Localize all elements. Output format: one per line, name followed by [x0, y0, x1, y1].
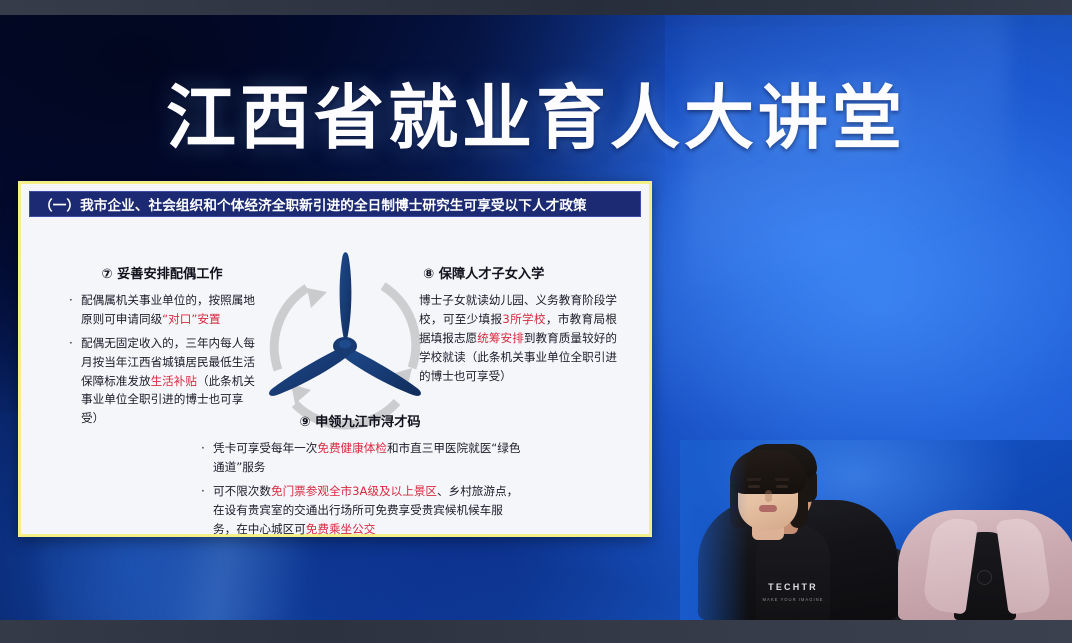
item-8-heading: ⑧ 保障人才子女入学 [419, 264, 617, 285]
highlight-segment: 生活补贴 [151, 374, 197, 388]
letterbox-bar-top [0, 0, 1072, 15]
slide-header-bar: （一）我市企业、社会组织和个体经济全职新引进的全日制博士研究生可享受以下人才政策 [29, 191, 641, 217]
slide-item-8: ⑧ 保障人才子女入学 博士子女就读幼儿园、义务教育阶段学校，可至少填报3所学校，… [419, 264, 617, 385]
bullet-dot: · [69, 291, 73, 310]
presenter-video-inset: TECHTR MAKE YOUR IMAGINE [680, 440, 1072, 620]
item-9-bullet-list: · 凭卡可享受每年一次免费健康体检和市直三甲医院就医“绿色通道”服务 · 可不限… [199, 439, 521, 538]
bullet-dot: · [201, 482, 205, 501]
highlight-segment: “对口”安置 [162, 312, 220, 326]
item-9-heading: ⑨ 申领九江市浔才码 [199, 412, 521, 433]
slide-body: ⑦ 妥善安排配偶工作 · 配偶属机关事业单位的，按照属地原则可申请同级“对口”安… [21, 224, 649, 534]
highlight-segment: 免费乘坐公交 [306, 522, 376, 536]
bullet-dot: · [201, 439, 205, 458]
bullet-dot: · [69, 334, 73, 353]
female-presenter-mouth [759, 505, 777, 512]
text-segment: 可不限次数 [213, 484, 271, 498]
female-presenter-eye-left [748, 485, 760, 489]
slide-header-title: （一）我市企业、社会组织和个体经济全职新引进的全日制博士研究生可享受以下人才政策 [39, 194, 587, 214]
list-item: · 配偶属机关事业单位的，按照属地原则可申请同级“对口”安置 [67, 291, 257, 329]
female-presenter-eye-right [776, 485, 788, 489]
highlight-segment: 免费健康体检 [317, 441, 387, 455]
highlight-segment: 免门票参观全市3A级及以上景区 [271, 484, 437, 498]
letterbox-bar-bottom [0, 620, 1072, 643]
video-edge-fade [680, 440, 748, 620]
female-presenter [898, 510, 1072, 620]
list-item: · 凭卡可享受每年一次免费健康体检和市直三甲医院就医“绿色通道”服务 [199, 439, 521, 477]
item-7-bullet-list: · 配偶属机关事业单位的，按照属地原则可申请同级“对口”安置 · 配偶无固定收入… [67, 291, 257, 427]
slide-item-7: ⑦ 妥善安排配偶工作 · 配偶属机关事业单位的，按照属地原则可申请同级“对口”安… [67, 264, 257, 433]
bullet-text: 配偶属机关事业单位的，按照属地原则可申请同级“对口”安置 [81, 293, 255, 326]
female-presenter-brow-right [775, 478, 789, 481]
female-presenter-brow-left [747, 478, 761, 481]
bullet-text: 凭卡可享受每年一次免费健康体检和市直三甲医院就医“绿色通道”服务 [213, 441, 520, 474]
shirt-logo-text: TECHTR [756, 582, 830, 592]
page-title: 江西省就业育人大讲堂 [0, 62, 1072, 163]
shirt-logo-subtext: MAKE YOUR IMAGINE [756, 597, 830, 602]
highlight-segment: 3所学校 [502, 312, 545, 326]
slide-item-9: ⑨ 申领九江市浔才码 · 凭卡可享受每年一次免费健康体检和市直三甲医院就医“绿色… [199, 412, 521, 543]
bullet-text: 可不限次数免门票参观全市3A级及以上景区、乡村旅游点，在设有贵宾室的交通出行场所… [213, 484, 518, 536]
highlight-segment: 统筹安排 [477, 331, 524, 345]
text-segment: 凭卡可享受每年一次 [213, 441, 317, 455]
item-7-heading: ⑦ 妥善安排配偶工作 [67, 264, 257, 285]
list-item: · 可不限次数免门票参观全市3A级及以上景区、乡村旅游点，在设有贵宾室的交通出行… [199, 482, 521, 538]
female-presenter-nose [765, 490, 772, 502]
female-presenter-pendant [978, 571, 991, 584]
item-8-paragraph: 博士子女就读幼儿园、义务教育阶段学校，可至少填报3所学校，市教育局根据填报志愿统… [419, 291, 617, 385]
broadcast-stage: 江西省就业育人大讲堂 （一）我市企业、社会组织和个体经济全职新引进的全日制博士研… [0, 0, 1072, 643]
presentation-slide: （一）我市企业、社会组织和个体经济全职新引进的全日制博士研究生可享受以下人才政策 [18, 181, 652, 537]
